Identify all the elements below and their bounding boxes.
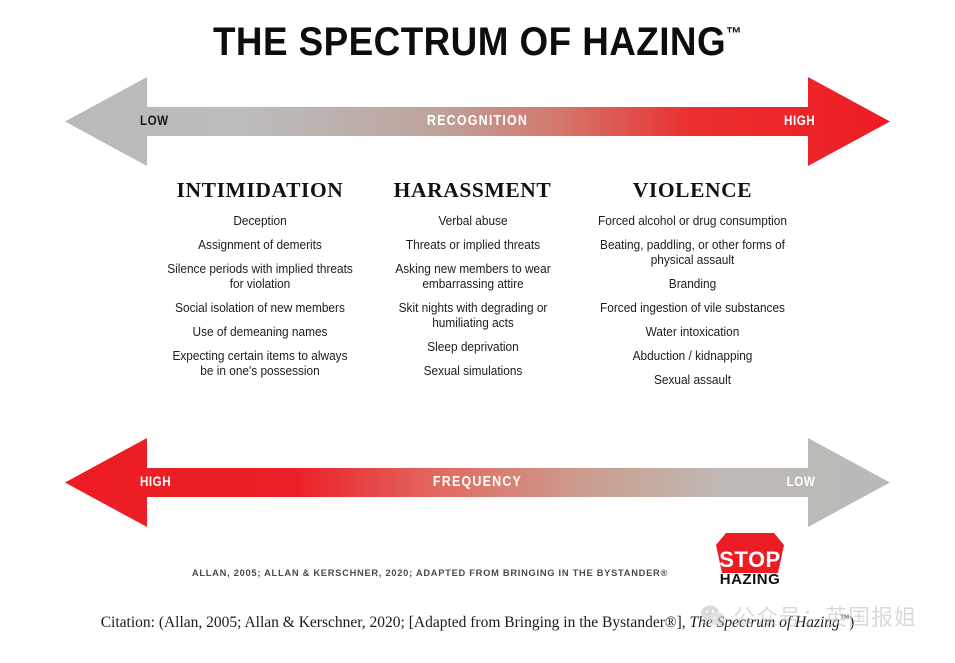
- category-heading-intimidation: INTIMIDATION: [160, 178, 360, 203]
- list-item: Assignment of demerits: [166, 238, 354, 253]
- category-list-intimidation: Deception Assignment of demerits Silence…: [160, 214, 360, 379]
- frequency-arrow-shape: [65, 435, 890, 530]
- list-item: Forced alcohol or drug consumption: [591, 214, 793, 229]
- category-list-violence: Forced alcohol or drug consumption Beati…: [585, 214, 800, 388]
- attribution-line: ALLAN, 2005; ALLAN & KERSCHNER, 2020; AD…: [168, 568, 692, 579]
- recognition-arrow: LOW RECOGNITION HIGH: [65, 74, 890, 169]
- list-item: Verbal abuse: [379, 214, 567, 229]
- category-column-violence: VIOLENCE Forced alcohol or drug consumpt…: [585, 178, 800, 397]
- list-item: Threats or implied threats: [379, 238, 567, 253]
- category-heading-harassment: HARASSMENT: [373, 178, 573, 203]
- list-item: Expecting certain items to always be in …: [166, 349, 354, 379]
- list-item: Asking new members to wear embarrassing …: [379, 262, 567, 292]
- list-item: Social isolation of new members: [166, 301, 354, 316]
- category-column-intimidation: INTIMIDATION Deception Assignment of dem…: [160, 178, 360, 388]
- trademark-symbol: ™: [726, 24, 742, 43]
- category-column-harassment: HARASSMENT Verbal abuse Threats or impli…: [373, 178, 573, 388]
- list-item: Sexual assault: [591, 373, 793, 388]
- svg-text:HAZING: HAZING: [720, 571, 781, 588]
- page-title-text: THE SPECTRUM OF HAZING: [213, 20, 726, 64]
- list-item: Sexual simulations: [379, 364, 567, 379]
- citation-trailing: ): [849, 614, 854, 631]
- list-item: Use of demeaning names: [166, 325, 354, 340]
- list-item: Beating, paddling, or other forms of phy…: [591, 238, 793, 268]
- list-item: Silence periods with implied threats for…: [166, 262, 354, 292]
- list-item: Deception: [166, 214, 354, 229]
- recognition-arrow-shape: [65, 74, 890, 169]
- list-item: Skit nights with degrading or humiliatin…: [379, 301, 567, 331]
- citation-lead: Citation: (Allan, 2005; Allan & Kerschne…: [101, 614, 690, 631]
- stophazing-logo: STOP HAZING: [712, 527, 788, 589]
- category-columns: INTIMIDATION Deception Assignment of dem…: [160, 178, 800, 397]
- list-item: Abduction / kidnapping: [591, 349, 793, 364]
- svg-text:STOP: STOP: [719, 547, 781, 572]
- list-item: Water intoxication: [591, 325, 793, 340]
- page-title: THE SPECTRUM OF HAZING™: [213, 20, 742, 65]
- list-item: Sleep deprivation: [379, 340, 567, 355]
- category-heading-violence: VIOLENCE: [585, 178, 800, 203]
- citation-work-title: The Spectrum of Hazing: [690, 614, 840, 631]
- citation-work-trademark: ™: [840, 614, 849, 624]
- stop-sign-icon: STOP HAZING: [712, 527, 788, 589]
- list-item: Forced ingestion of vile substances: [591, 301, 793, 316]
- category-list-harassment: Verbal abuse Threats or implied threats …: [373, 214, 573, 379]
- frequency-arrow: HIGH FREQUENCY LOW: [65, 435, 890, 530]
- citation-line: Citation: (Allan, 2005; Allan & Kerschne…: [0, 608, 955, 634]
- title-bar: THE SPECTRUM OF HAZING™: [0, 20, 955, 65]
- list-item: Branding: [591, 277, 793, 292]
